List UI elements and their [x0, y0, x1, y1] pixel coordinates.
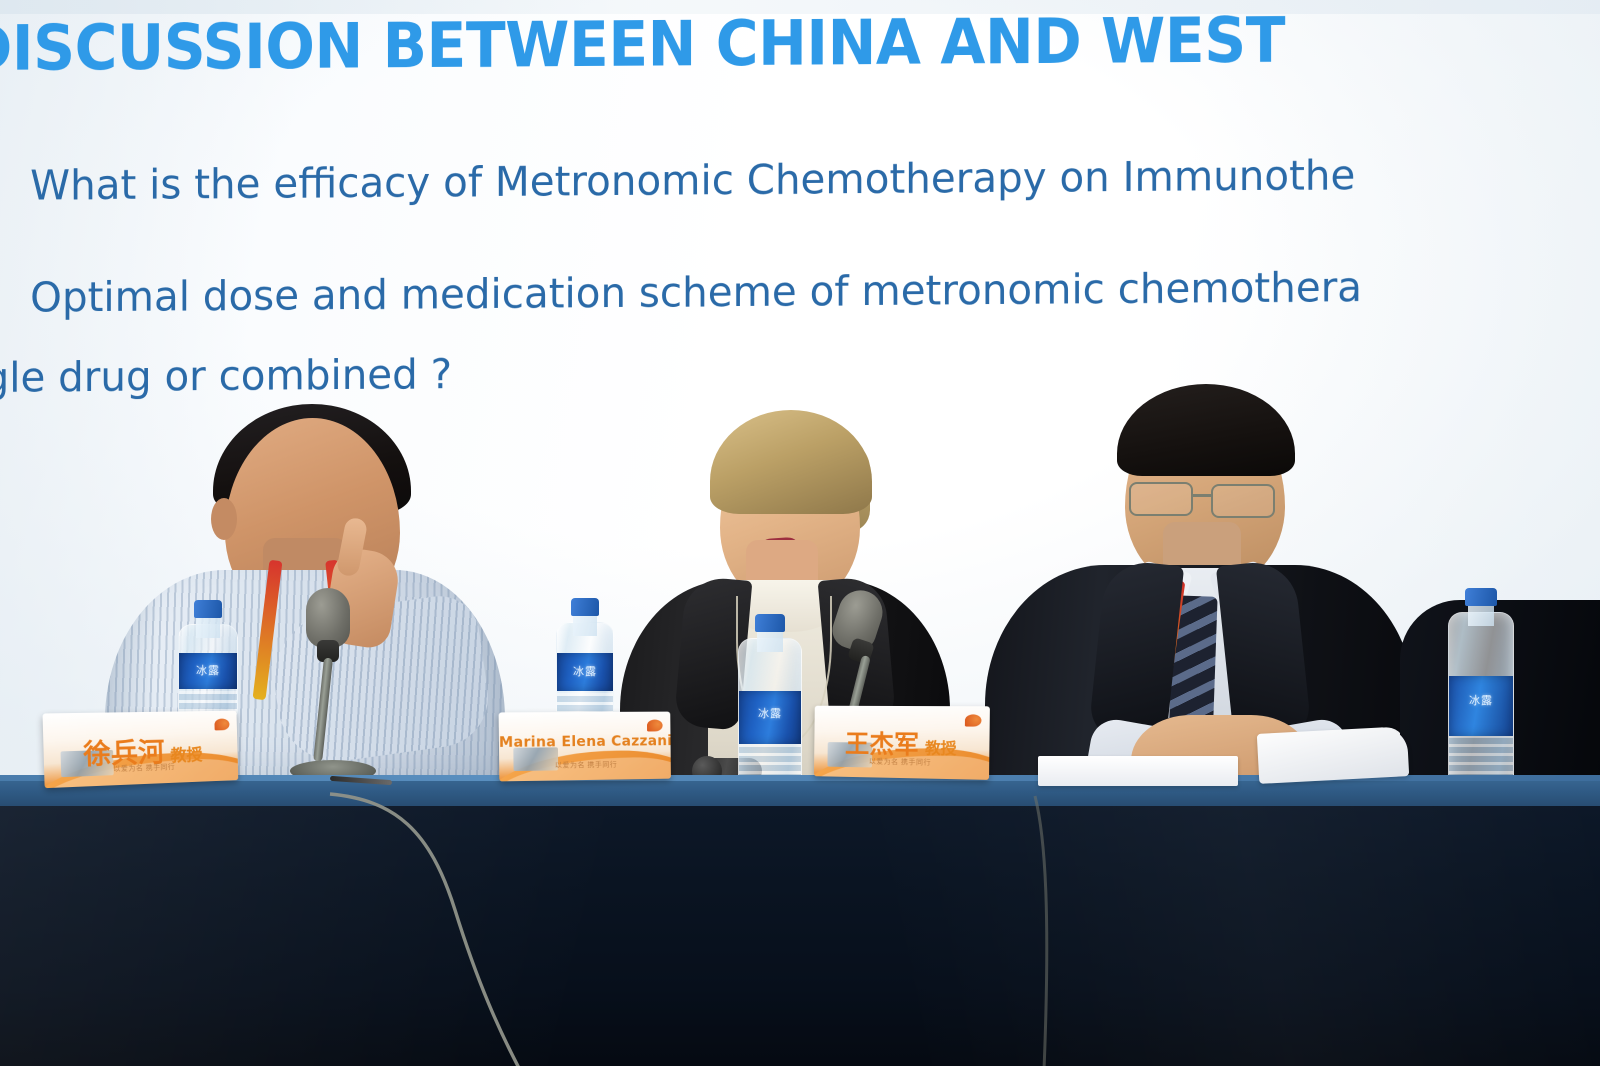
nameplate-person-name: Marina Elena Cazzaniga: [499, 734, 671, 752]
microphone-cable: [0, 770, 1600, 1066]
slide-title: DISCUSSION BETWEEN CHINA AND WEST: [0, 3, 1285, 85]
bottle-brand: 冰露: [739, 705, 800, 721]
nameplate-person-name: 王杰军: [845, 730, 919, 760]
table-papers-left: [1038, 756, 1238, 786]
slide-bullet-2: 、Optimal dose and medication scheme of m…: [0, 253, 1362, 324]
hair: [1117, 384, 1295, 476]
bottle-cap: [194, 600, 223, 618]
bottle-brand: 冰露: [557, 663, 613, 679]
water-bottle-left: 冰露: [178, 600, 238, 720]
bottle-label: 冰露: [179, 653, 237, 689]
bottle-label: 冰露: [557, 653, 613, 691]
sponsor-logo-icon: [965, 714, 982, 726]
bottle-label: 冰露: [739, 691, 800, 744]
bottle-cap: [571, 598, 599, 616]
lens-left: [1129, 482, 1193, 516]
screenshot-root: DISCUSSION BETWEEN CHINA AND WEST 、What …: [0, 0, 1600, 1066]
bottle-label: 冰露: [1449, 676, 1512, 736]
water-bottle-center-back: 冰露: [556, 598, 614, 724]
bullet-text-3: ngle drug or combined ?: [0, 350, 452, 402]
bottle-brand: 冰露: [1449, 692, 1512, 708]
mic-foam-windscreen: [306, 588, 350, 648]
bottle-brand: 冰露: [179, 662, 237, 678]
sponsor-logo-icon: [647, 720, 663, 732]
nameplate-name-center: Marina Elena Cazzaniga: [499, 734, 671, 752]
bullet-text-2: Optimal dose and medication scheme of me…: [30, 263, 1362, 321]
lens-right: [1211, 484, 1275, 518]
slide-bullet-1: 、What is the efficacy of Metronomic Chem…: [0, 141, 1355, 212]
bottle-cap: [755, 614, 786, 632]
eyeglasses-icon: [1123, 482, 1293, 518]
bullet-mark-1: 、: [0, 162, 30, 210]
water-bottle-center-front: 冰露: [738, 614, 802, 790]
bullet-mark-2: 、: [0, 274, 30, 322]
nameplate-center: Marina Elena Cazzaniga 以爱为名 携手同行: [499, 712, 671, 782]
ear: [211, 498, 237, 540]
bullet-text-1: What is the efficacy of Metronomic Chemo…: [30, 151, 1355, 209]
glasses-bridge: [1193, 494, 1213, 497]
bottle-cap: [1465, 588, 1497, 606]
nameplate-right: 王杰军教授 以爱为名 携手同行: [814, 706, 990, 780]
table-papers-right: [1257, 726, 1409, 784]
slide-bullet-3-continuation: ngle drug or combined ?: [0, 350, 452, 402]
water-bottle-right: 冰露: [1448, 588, 1514, 788]
nameplate-left: 徐兵河教授 以爱为名 携手同行: [43, 711, 239, 789]
hair: [710, 410, 872, 514]
nameplate-person-title: 教授: [919, 740, 957, 759]
